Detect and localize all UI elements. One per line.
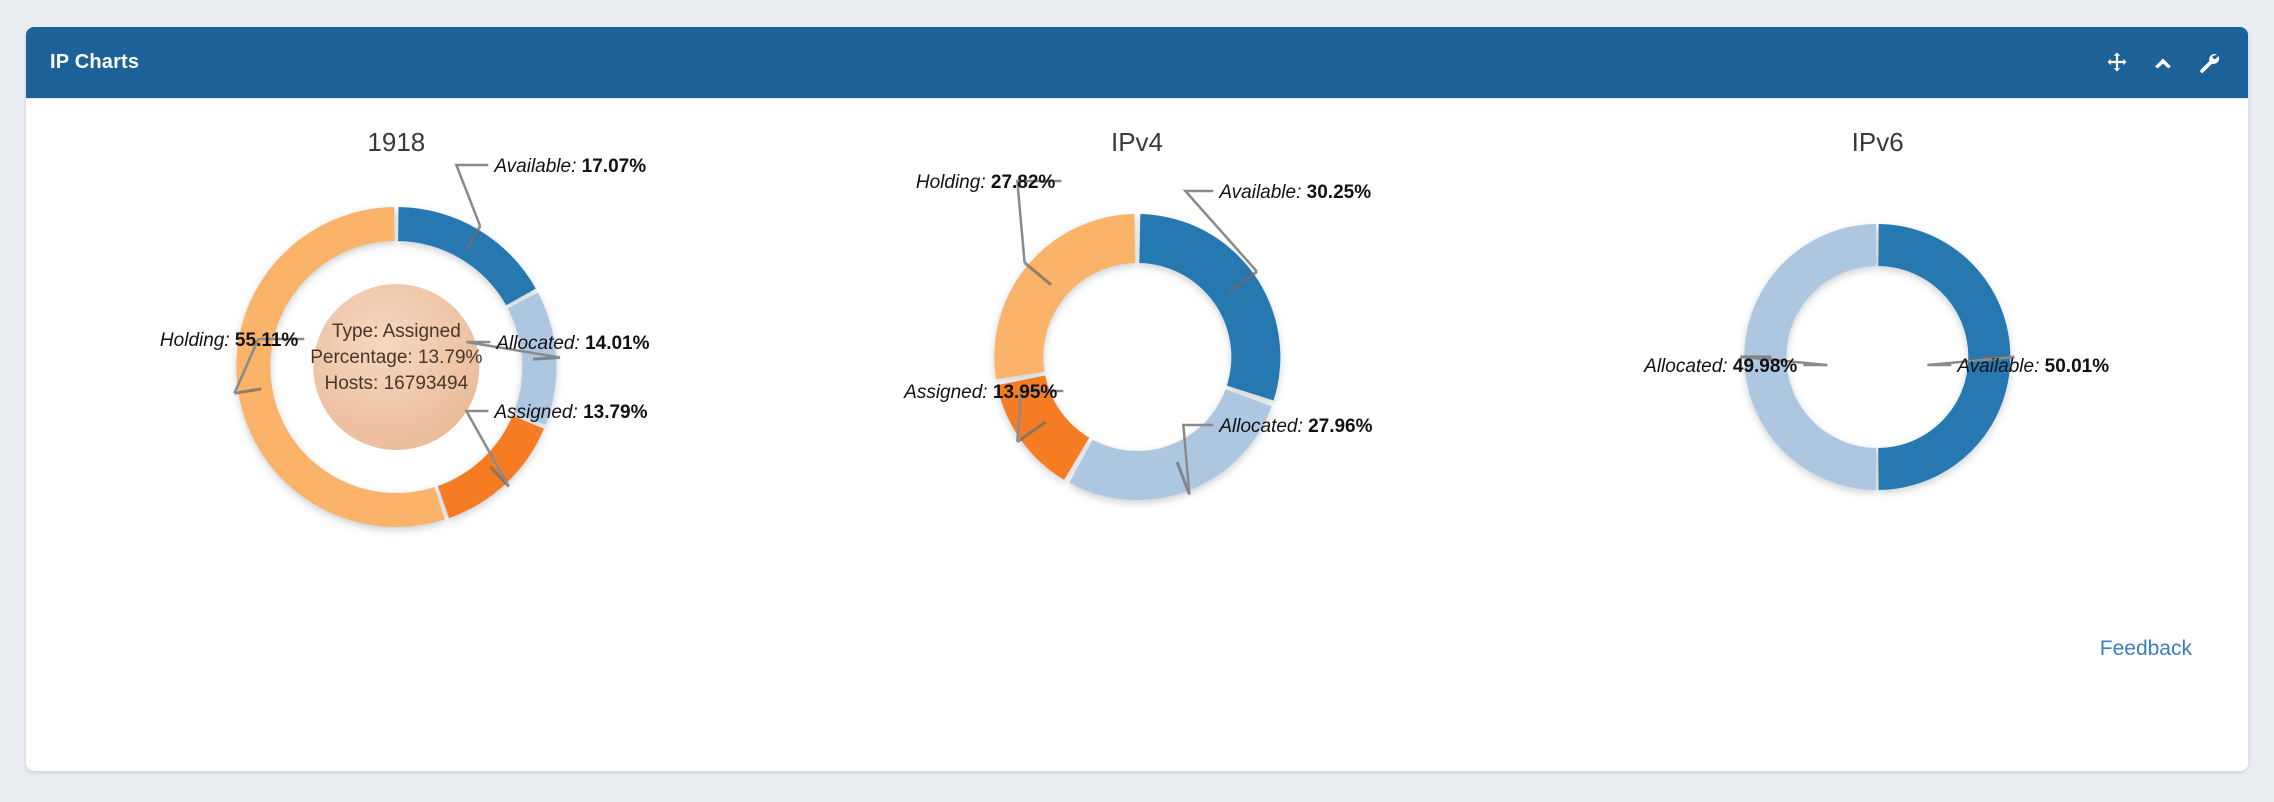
donut-chart-1918[interactable]: Type: Assigned Percentage: 13.79% Hosts:…	[26, 99, 767, 619]
feedback-link[interactable]: Feedback	[2100, 637, 2192, 661]
slice-label: Holding: 55.11%	[160, 330, 298, 351]
chart-cell-ipv4: IPv4 Available: 30.25%Allocated: 27.96%A…	[767, 99, 1508, 619]
panel-toolbar	[2104, 50, 2222, 76]
screen-root: IP Charts	[0, 0, 2274, 802]
move-icon[interactable]	[2104, 50, 2130, 76]
slice-label: Allocated: 27.96%	[1218, 416, 1372, 437]
hover-tooltip: Type: Assigned Percentage: 13.79% Hosts:…	[310, 284, 482, 450]
leader-line	[456, 165, 488, 226]
panel-header: IP Charts	[26, 27, 2248, 98]
charts-row: 1918	[26, 99, 2248, 619]
slice-labels: Available: 50.01%Allocated: 49.98%	[1643, 356, 2109, 377]
panel-title: IP Charts	[50, 51, 139, 74]
slice-label: Available: 17.07%	[493, 156, 646, 177]
slice-label: Available: 50.01%	[1957, 356, 2110, 377]
tooltip-line-type: Type: Assigned	[332, 321, 461, 342]
chart-cell-1918: 1918	[26, 99, 767, 619]
slice-label: Assigned: 13.79%	[493, 402, 647, 423]
tooltip-line-hosts: Hosts: 16793494	[325, 373, 469, 394]
tooltip-line-percentage: Percentage: 13.79%	[310, 347, 482, 368]
chart-cell-ipv6: IPv6 Available: 50.01%Allocated: 49.98%	[1507, 99, 2248, 619]
panel-body: 1918	[26, 98, 2248, 771]
donut-segments[interactable]	[994, 214, 1280, 500]
slice-label: Available: 30.25%	[1218, 182, 1371, 203]
slice-label: Allocated: 14.01%	[495, 333, 649, 354]
slice-label: Assigned: 13.95%	[903, 382, 1057, 403]
slice-label: Allocated: 49.98%	[1643, 356, 1797, 377]
slice-label: Holding: 27.82%	[916, 172, 1056, 193]
settings-wrench-icon[interactable]	[2196, 50, 2222, 76]
ip-charts-panel: IP Charts	[26, 27, 2248, 771]
donut-segment[interactable]	[1139, 214, 1280, 400]
donut-chart-ipv6[interactable]: Available: 50.01%Allocated: 49.98%	[1507, 99, 2248, 619]
slice-labels: Available: 30.25%Allocated: 27.96%Assign…	[903, 172, 1372, 437]
collapse-chevron-up-icon[interactable]	[2150, 50, 2176, 76]
donut-segment[interactable]	[1069, 389, 1271, 500]
donut-segment[interactable]	[994, 214, 1135, 379]
donut-chart-ipv4[interactable]: Available: 30.25%Allocated: 27.96%Assign…	[767, 99, 1508, 619]
